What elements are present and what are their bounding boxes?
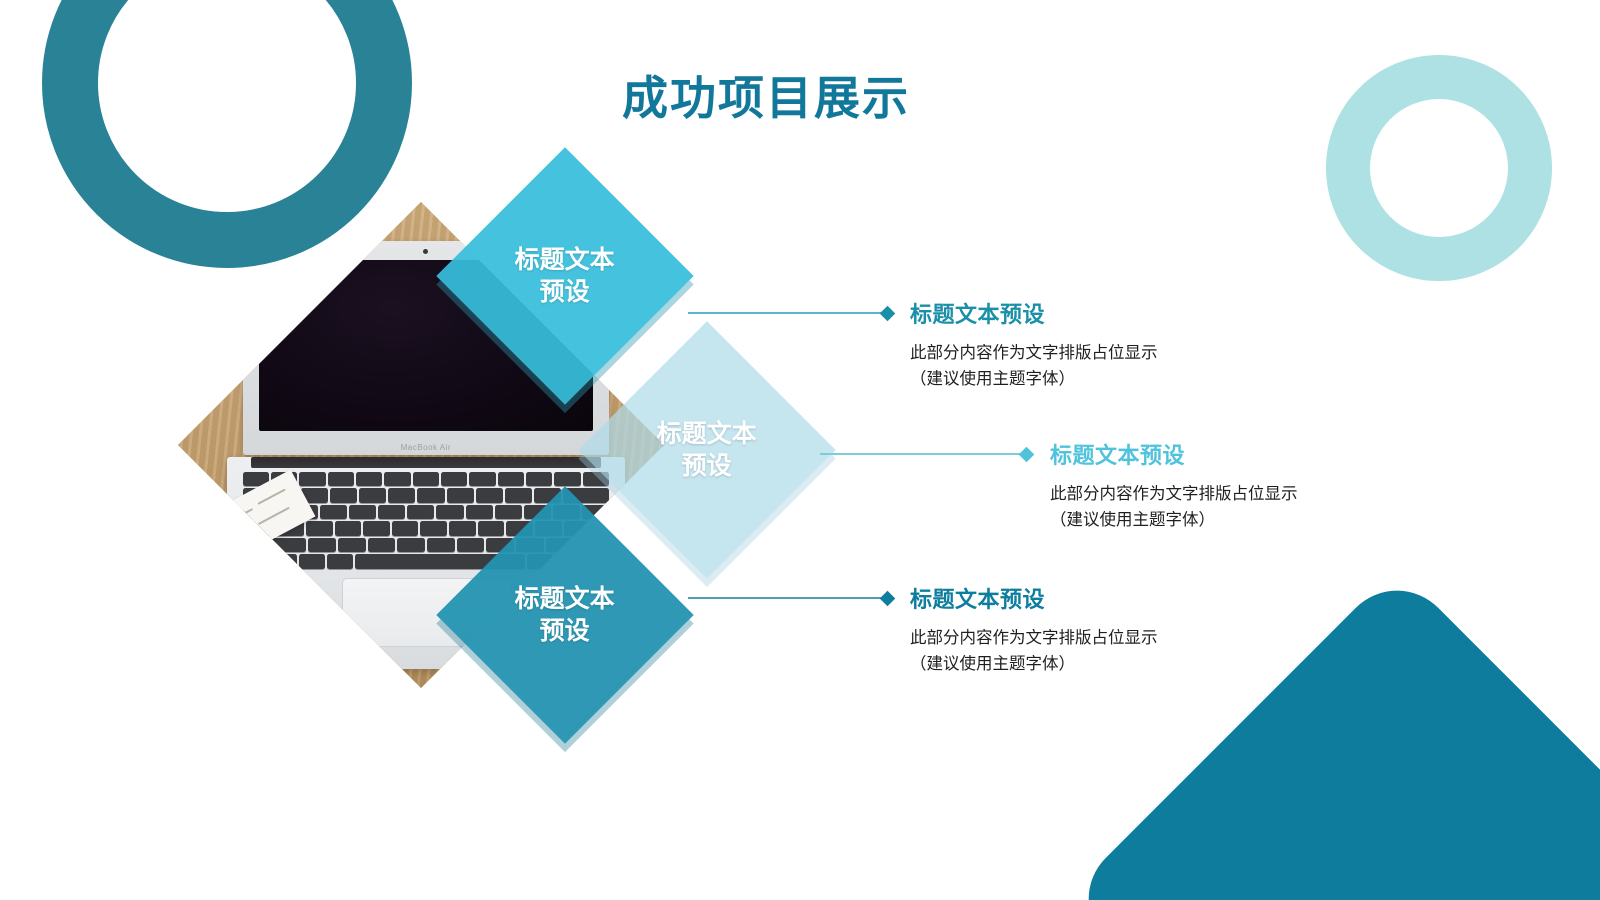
- connector-line-1-stroke: [688, 312, 883, 314]
- content-block-1-heading: 标题文本预设: [910, 297, 1310, 329]
- content-block-2-heading: 标题文本预设: [1050, 438, 1450, 470]
- content-block-1: 标题文本预设 此部分内容作为文字排版占位显示 （建议使用主题字体）: [910, 297, 1310, 392]
- content-block-3-body: 此部分内容作为文字排版占位显示 （建议使用主题字体）: [910, 626, 1310, 677]
- content-block-2-body: 此部分内容作为文字排版占位显示 （建议使用主题字体）: [1050, 482, 1450, 533]
- label-diamond-1-text: 标题文本 预设: [515, 244, 615, 307]
- connector-diamond-bullet-2-icon: [1019, 446, 1035, 462]
- content-block-3: 标题文本预设 此部分内容作为文字排版占位显示 （建议使用主题字体）: [910, 582, 1310, 677]
- label-diamond-3-text: 标题文本 预设: [515, 583, 615, 646]
- pale-cyan-ring-decoration: [1326, 55, 1552, 281]
- laptop-hinge: [251, 457, 602, 469]
- connector-diamond-bullet-1-icon: [880, 305, 896, 321]
- connector-line-1: [688, 306, 893, 320]
- label-diamond-2-text: 标题文本 预设: [657, 418, 757, 481]
- connector-line-2: [820, 447, 1032, 461]
- content-block-3-heading: 标题文本预设: [910, 582, 1310, 614]
- connector-line-3: [688, 591, 893, 605]
- laptop-model-label: MacBook Air: [243, 443, 610, 452]
- page-title: 成功项目展示: [622, 62, 910, 128]
- connector-line-3-stroke: [688, 597, 883, 599]
- teal-ring-decoration: [42, 0, 412, 268]
- slide-canvas: 成功项目展示 MacBook Air: [0, 0, 1600, 900]
- content-block-1-body: 此部分内容作为文字排版占位显示 （建议使用主题字体）: [910, 341, 1310, 392]
- webcam-icon: [423, 249, 428, 254]
- connector-diamond-bullet-3-icon: [880, 590, 896, 606]
- content-block-2: 标题文本预设 此部分内容作为文字排版占位显示 （建议使用主题字体）: [1050, 438, 1450, 533]
- connector-line-2-stroke: [820, 453, 1022, 455]
